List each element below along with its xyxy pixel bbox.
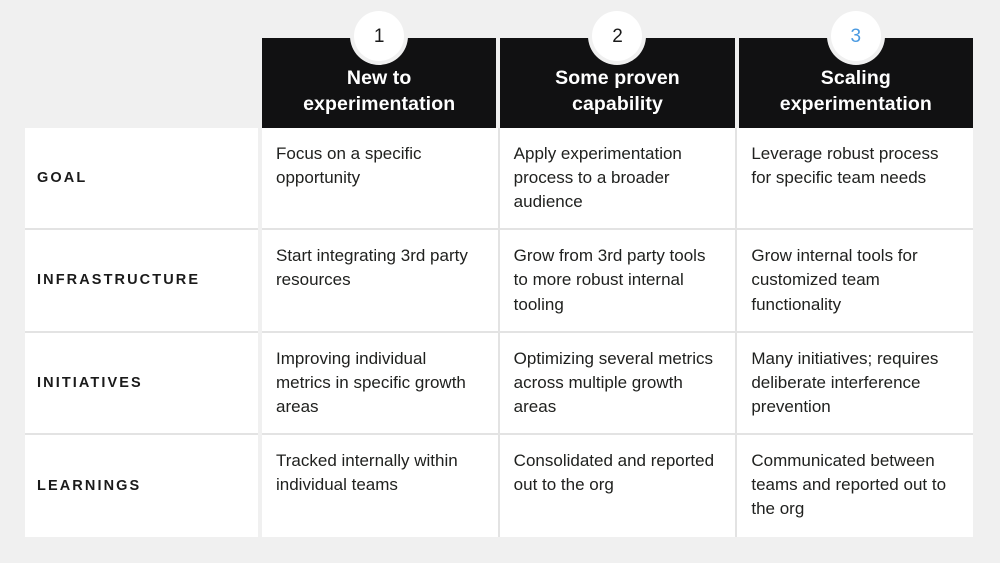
matrix-cell-learnings-1: Tracked internally within individual tea… [262, 435, 500, 537]
row-label: INITIATIVES [37, 375, 143, 391]
matrix-cell-infrastructure-3: Grow internal tools for customized team … [737, 230, 973, 330]
row-data-cells: Start integrating 3rd party resources Gr… [262, 230, 973, 332]
column-title-2: Some proven capability [547, 66, 688, 118]
table-row: INFRASTRUCTURE Start integrating 3rd par… [25, 230, 973, 332]
row-label-cell-learnings: LEARNINGS [25, 435, 258, 537]
matrix-cell-goal-2: Apply experimentation process to a broad… [500, 128, 738, 228]
cell-text: Apply experimentation process to a broad… [514, 142, 722, 214]
experimentation-maturity-matrix: 1 New to experimentation 2 Some proven c… [0, 0, 1000, 563]
matrix-cell-infrastructure-2: Grow from 3rd party tools to more robust… [500, 230, 738, 330]
cell-text: Focus on a specific opportunity [276, 142, 484, 190]
cell-text: Leverage robust process for specific tea… [751, 142, 959, 190]
matrix-body: GOAL Focus on a specific opportunity App… [25, 128, 973, 537]
cell-text: Tracked internally within individual tea… [276, 449, 484, 497]
step-badge-2: 2 [592, 11, 642, 61]
step-badge-number: 3 [851, 27, 862, 46]
matrix-cell-goal-3: Leverage robust process for specific tea… [737, 128, 973, 228]
cell-text: Grow from 3rd party tools to more robust… [514, 244, 722, 316]
cell-text: Consolidated and reported out to the org [514, 449, 722, 497]
column-title-1: New to experimentation [295, 66, 463, 118]
matrix-header-row: 1 New to experimentation 2 Some proven c… [262, 38, 973, 128]
matrix-cell-learnings-2: Consolidated and reported out to the org [500, 435, 738, 537]
cell-text: Grow internal tools for customized team … [751, 244, 959, 316]
table-row: INITIATIVES Improving individual metrics… [25, 333, 973, 435]
matrix-column-header-2: 2 Some proven capability [500, 38, 734, 128]
row-label: LEARNINGS [37, 478, 141, 494]
cell-text: Optimizing several metrics across multip… [514, 347, 722, 419]
step-badge-number: 2 [612, 27, 623, 46]
step-badge-number: 1 [374, 27, 385, 46]
matrix-cell-goal-1: Focus on a specific opportunity [262, 128, 500, 228]
row-label-cell-initiatives: INITIATIVES [25, 333, 258, 435]
table-row: GOAL Focus on a specific opportunity App… [25, 128, 973, 230]
row-data-cells: Improving individual metrics in specific… [262, 333, 973, 435]
row-label: INFRASTRUCTURE [37, 272, 200, 288]
matrix-column-header-1: 1 New to experimentation [262, 38, 496, 128]
table-row: LEARNINGS Tracked internally within indi… [25, 435, 973, 537]
matrix-cell-infrastructure-1: Start integrating 3rd party resources [262, 230, 500, 330]
column-title-3: Scaling experimentation [772, 66, 940, 118]
matrix-cell-initiatives-1: Improving individual metrics in specific… [262, 333, 500, 433]
matrix-cell-initiatives-3: Many initiatives; requires deliberate in… [737, 333, 973, 433]
cell-text: Start integrating 3rd party resources [276, 244, 484, 292]
row-label-cell-goal: GOAL [25, 128, 258, 230]
matrix-column-header-3: 3 Scaling experimentation [739, 38, 973, 128]
step-badge-3: 3 [831, 11, 881, 61]
row-label: GOAL [37, 170, 87, 186]
row-label-cell-infrastructure: INFRASTRUCTURE [25, 230, 258, 332]
matrix-cell-learnings-3: Communicated between teams and reported … [737, 435, 973, 537]
row-data-cells: Focus on a specific opportunity Apply ex… [262, 128, 973, 230]
matrix-grid: GOAL Focus on a specific opportunity App… [25, 128, 973, 537]
cell-text: Communicated between teams and reported … [751, 449, 959, 521]
cell-text: Improving individual metrics in specific… [276, 347, 484, 419]
row-data-cells: Tracked internally within individual tea… [262, 435, 973, 537]
matrix-cell-initiatives-2: Optimizing several metrics across multip… [500, 333, 738, 433]
cell-text: Many initiatives; requires deliberate in… [751, 347, 959, 419]
step-badge-1: 1 [354, 11, 404, 61]
